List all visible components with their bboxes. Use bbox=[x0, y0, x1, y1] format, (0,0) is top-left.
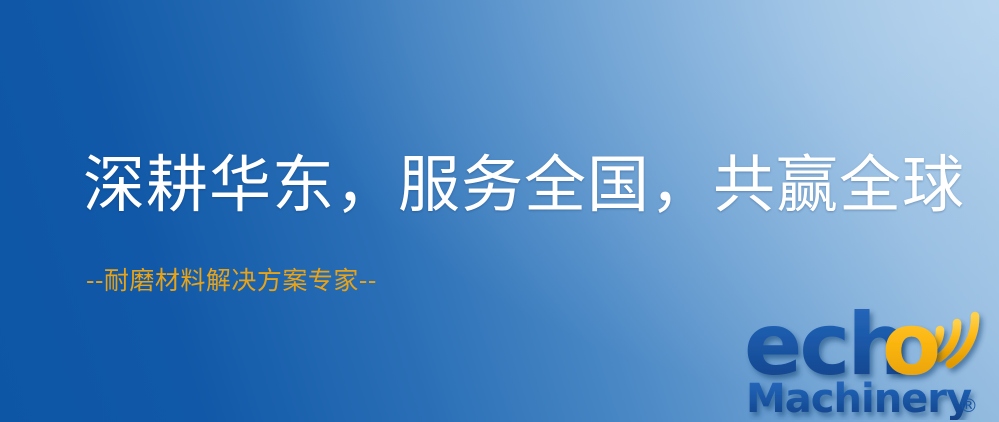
logo-wordmark-machinery: Machinery bbox=[746, 376, 972, 420]
registered-trademark-icon: ® bbox=[959, 395, 978, 417]
echo-machinery-logo: ech o Machinery ® bbox=[744, 292, 999, 420]
banner-headline: 深耕华东，服务全国，共赢全球 bbox=[83, 152, 965, 219]
banner-subheadline: --耐磨材料解决方案专家-- bbox=[86, 266, 377, 296]
promo-banner: 深耕华东，服务全国，共赢全球 --耐磨材料解决方案专家-- bbox=[0, 0, 999, 422]
